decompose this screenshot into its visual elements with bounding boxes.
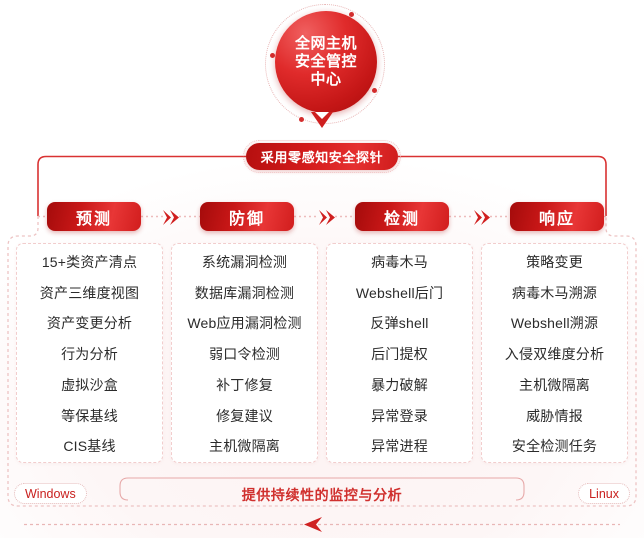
stage-header-defend[interactable]: 防御 xyxy=(200,202,294,231)
list-item[interactable]: 安全检测任务 xyxy=(512,439,597,454)
list-item[interactable]: 策略变更 xyxy=(526,255,583,270)
list-item[interactable]: 病毒木马溯源 xyxy=(512,286,597,301)
list-item[interactable]: 资产三维度视图 xyxy=(40,286,139,301)
hub-ring-dot xyxy=(299,117,304,122)
stage-header-detect[interactable]: 检测 xyxy=(355,202,449,231)
stage-headers-row: 预测 防御 检测 响应 xyxy=(0,202,644,234)
diagram-canvas: 全网主机 安全管控 中心 采用零感知安全探针 预测 防御 检测 响应 15+类资… xyxy=(0,0,644,538)
stage-panel-predict: 15+类资产清点 资产三维度视图 资产变更分析 行为分析 虚拟沙盒 等保基线 C… xyxy=(16,243,163,463)
list-item[interactable]: 等保基线 xyxy=(61,409,118,424)
probe-pill: 采用零感知安全探针 xyxy=(246,143,398,170)
stage-panels-row: 15+类资产清点 资产三维度视图 资产变更分析 行为分析 虚拟沙盒 等保基线 C… xyxy=(16,243,628,463)
stage-panel-respond: 策略变更 病毒木马溯源 Webshell溯源 入侵双维度分析 主机微隔离 威胁情… xyxy=(481,243,628,463)
list-item[interactable]: 暴力破解 xyxy=(371,378,428,393)
hub-ring-dot xyxy=(372,88,377,93)
list-item[interactable]: 主机微隔离 xyxy=(209,439,280,454)
list-item[interactable]: 后门提权 xyxy=(371,347,428,362)
list-item[interactable]: 威胁情报 xyxy=(526,409,583,424)
list-item[interactable]: CIS基线 xyxy=(63,439,115,454)
central-hub: 全网主机 安全管控 中心 xyxy=(265,4,385,124)
stage-panel-detect: 病毒木马 Webshell后门 反弹shell 后门提权 暴力破解 异常登录 异… xyxy=(326,243,473,463)
list-item[interactable]: 行为分析 xyxy=(61,347,118,362)
chevron-right-icon xyxy=(319,210,335,225)
chevron-right-icon xyxy=(474,210,490,225)
list-item[interactable]: 系统漏洞检测 xyxy=(202,255,287,270)
down-arrow-notch-icon xyxy=(315,112,329,119)
hub-title-line-2: 安全管控 xyxy=(295,53,357,71)
list-item[interactable]: 入侵双维度分析 xyxy=(505,347,604,362)
list-item[interactable]: 15+类资产清点 xyxy=(42,255,137,270)
list-item[interactable]: Webshell溯源 xyxy=(511,316,598,331)
list-item[interactable]: Web应用漏洞检测 xyxy=(187,316,301,331)
list-item[interactable]: 异常进程 xyxy=(371,439,428,454)
os-badge-linux: Linux xyxy=(578,483,630,504)
stage-panel-defend: 系统漏洞检测 数据库漏洞检测 Web应用漏洞检测 弱口令检测 补丁修复 修复建议… xyxy=(171,243,318,463)
list-item[interactable]: Webshell后门 xyxy=(356,286,443,301)
hub-circle: 全网主机 安全管控 中心 xyxy=(275,11,377,113)
list-item[interactable]: 修复建议 xyxy=(216,409,273,424)
list-item[interactable]: 补丁修复 xyxy=(216,378,273,393)
list-item[interactable]: 资产变更分析 xyxy=(47,316,132,331)
list-item[interactable]: 异常登录 xyxy=(371,409,428,424)
chevron-right-icon xyxy=(163,210,179,225)
list-item[interactable]: 虚拟沙盒 xyxy=(61,378,118,393)
stage-header-respond[interactable]: 响应 xyxy=(510,202,604,231)
list-item[interactable]: 弱口令检测 xyxy=(209,347,280,362)
bottom-caption: 提供持续性的监控与分析 xyxy=(0,485,644,505)
stage-header-predict[interactable]: 预测 xyxy=(47,202,141,231)
hub-title-line-1: 全网主机 xyxy=(295,35,357,53)
hub-title-line-3: 中心 xyxy=(310,71,341,89)
list-item[interactable]: 数据库漏洞检测 xyxy=(195,286,294,301)
list-item[interactable]: 病毒木马 xyxy=(371,255,428,270)
list-item[interactable]: 反弹shell xyxy=(370,316,428,331)
list-item[interactable]: 主机微隔离 xyxy=(519,378,590,393)
